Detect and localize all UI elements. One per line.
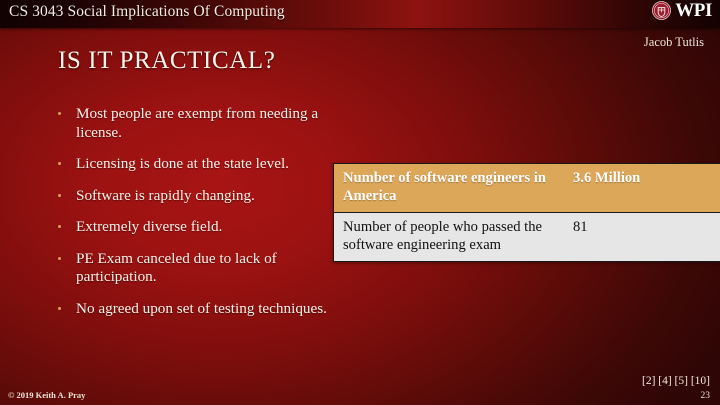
slide-header-band: CS 3043 Social Implications Of Computing…: [0, 0, 720, 28]
presentation-slide: CS 3043 Social Implications Of Computing…: [0, 0, 720, 405]
list-item-text: Extremely diverse field.: [76, 218, 222, 235]
list-item-text: Most people are exempt from needing a li…: [76, 105, 318, 141]
bullet-list: Most people are exempt from needing a li…: [54, 105, 339, 331]
list-item: Extremely diverse field.: [54, 218, 339, 237]
table-row: Number of software engineers in America …: [334, 164, 720, 213]
wpi-logo: WPI: [652, 1, 712, 20]
slide-title: IS IT PRACTICAL?: [58, 47, 275, 75]
reference-citations: [2] [4] [5] [10]: [642, 375, 710, 387]
list-item-text: No agreed upon set of testing techniques…: [76, 300, 327, 317]
bullet-dot-icon: [58, 257, 61, 260]
wpi-seal-icon: [652, 1, 671, 20]
statistics-table: Number of software engineers in America …: [333, 163, 720, 262]
table-cell-value: 81: [564, 213, 720, 262]
bullet-dot-icon: [58, 194, 61, 197]
author-name: Jacob Tutlis: [644, 35, 704, 50]
bullet-dot-icon: [58, 162, 61, 165]
slide-page-number: 23: [701, 391, 711, 401]
list-item: PE Exam canceled due to lack of particip…: [54, 250, 339, 287]
table-cell-label: Number of software engineers in America: [334, 164, 565, 213]
list-item-text: PE Exam canceled due to lack of particip…: [76, 250, 277, 286]
list-item-text: Software is rapidly changing.: [76, 187, 255, 204]
list-item: Most people are exempt from needing a li…: [54, 105, 339, 142]
bullet-dot-icon: [58, 225, 61, 228]
bullet-dot-icon: [58, 112, 61, 115]
list-item: Software is rapidly changing.: [54, 187, 339, 206]
list-item-text: Licensing is done at the state level.: [76, 155, 289, 172]
list-item: No agreed upon set of testing techniques…: [54, 300, 339, 319]
bullet-dot-icon: [58, 307, 61, 310]
table-cell-label: Number of people who passed the software…: [334, 213, 565, 262]
wpi-wordmark: WPI: [675, 1, 712, 20]
table-row: Number of people who passed the software…: [334, 213, 720, 262]
list-item: Licensing is done at the state level.: [54, 155, 339, 174]
copyright-notice: © 2019 Keith A. Pray: [8, 390, 85, 400]
course-title: CS 3043 Social Implications Of Computing: [9, 3, 285, 21]
table-cell-value: 3.6 Million: [564, 164, 720, 213]
